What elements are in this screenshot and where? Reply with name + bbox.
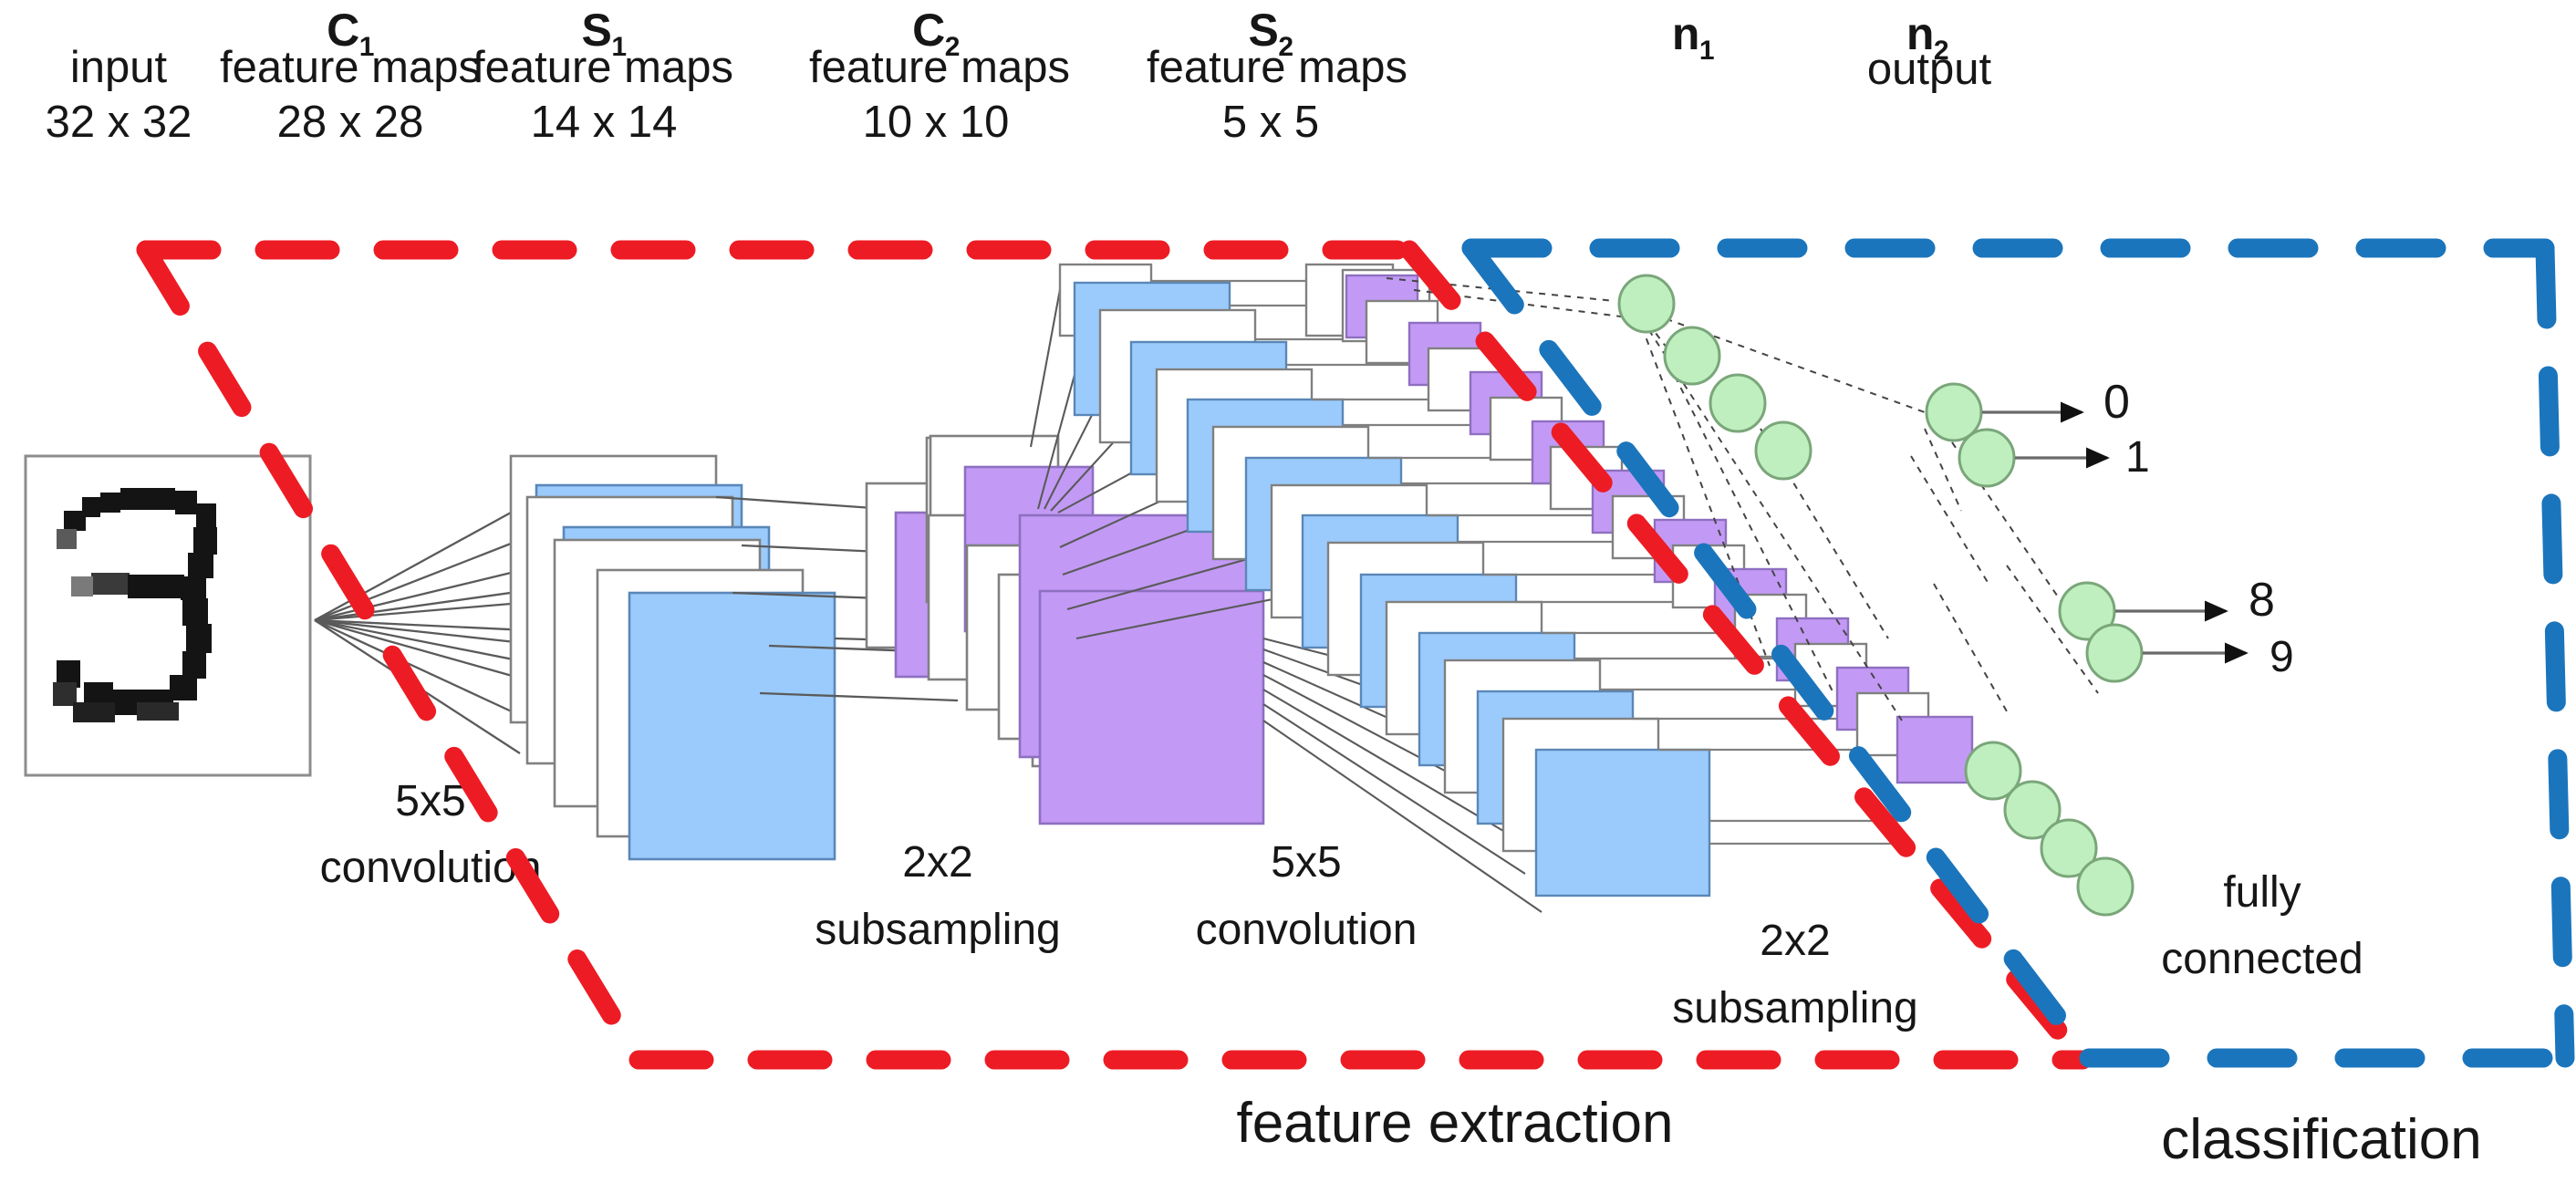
classification-zone-border [1471,248,2565,1058]
n2-output-neurons [1927,384,2142,681]
diagram-canvas [0,0,2576,1193]
s1-feature-maps-front [1040,591,1263,824]
input-image-box [26,456,310,775]
cnn-architecture-diagram: input 32 x 32 C1 feature maps 28 x 28 S1… [0,0,2576,1193]
